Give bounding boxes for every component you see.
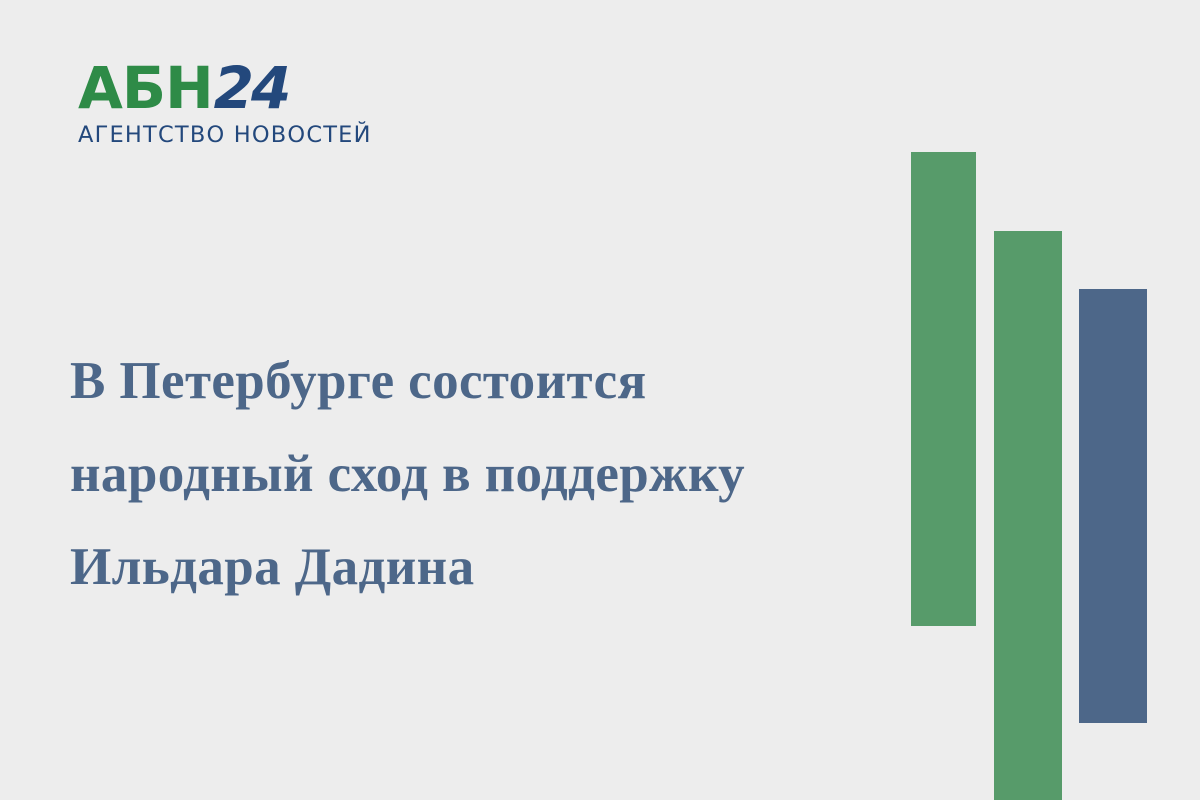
bar-2 xyxy=(994,231,1062,800)
headline-line-1: В Петербурге состоится xyxy=(70,335,870,428)
abn24-logo[interactable]: АБН24 АГЕНТСТВО НОВОСТЕЙ xyxy=(78,58,378,148)
logo-wordmark: АБН24 xyxy=(78,58,378,118)
headline-line-2: народный сход в поддержку xyxy=(70,428,870,521)
page-title: В Петербурге состоится народный сход в п… xyxy=(70,335,870,614)
logo-brand-number: 24 xyxy=(214,54,289,122)
bar-3 xyxy=(1079,289,1147,723)
logo-brand-main: АБН xyxy=(78,54,213,122)
headline-line-3: Ильдара Дадина xyxy=(70,521,870,614)
bar-1 xyxy=(911,152,976,626)
news-card: АБН24 АГЕНТСТВО НОВОСТЕЙ В Петербурге со… xyxy=(0,0,1200,800)
logo-tagline: АГЕНТСТВО НОВОСТЕЙ xyxy=(78,122,378,148)
